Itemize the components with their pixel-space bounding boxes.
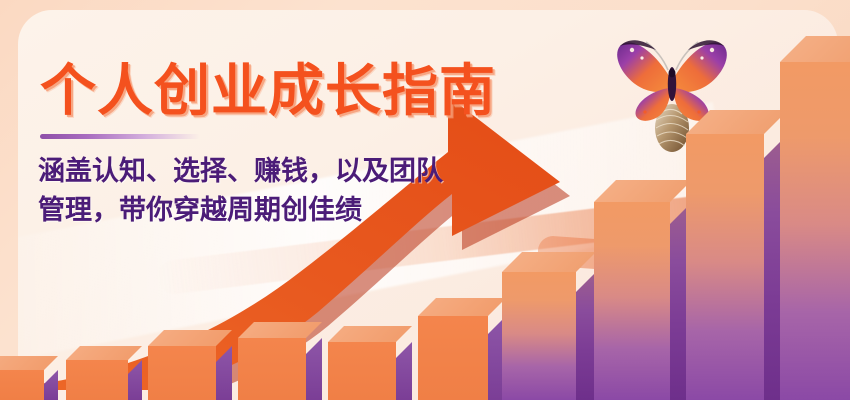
chart-bar [66, 360, 128, 400]
butterfly-wing-left-upper [617, 43, 669, 93]
subtitle-block: 涵盖认知、选择、赚钱，以及团队 管理，带你穿越周期创佳绩 [38, 152, 568, 230]
chart-bar [148, 346, 216, 400]
chart-bar [686, 134, 764, 400]
chart-bar [418, 316, 488, 400]
chart-bar [328, 342, 396, 400]
bar-top-face [780, 36, 850, 62]
bar-front-face [594, 202, 670, 400]
chart-bar [0, 370, 44, 400]
bar-front-face [328, 342, 396, 400]
page-title: 个人创业成长指南 [40, 46, 496, 127]
title-divider [40, 134, 200, 139]
chart-bar [780, 62, 850, 400]
chart-bar [502, 272, 576, 400]
bar-side-face [576, 272, 596, 400]
bar-front-face [502, 272, 576, 400]
bar-front-face [0, 370, 44, 400]
bar-front-face [780, 62, 850, 400]
chart-bar [238, 338, 306, 400]
bar-front-face [148, 346, 216, 400]
chart-bar [594, 202, 670, 400]
promo-banner: 个人创业成长指南 涵盖认知、选择、赚钱，以及团队 管理，带你穿越周期创佳绩 [0, 0, 850, 400]
bar-front-face [418, 316, 488, 400]
butterfly-wing-right-upper [675, 43, 727, 93]
subtitle-line-2: 管理，带你穿越周期创佳绩 [38, 191, 568, 230]
bar-front-face [66, 360, 128, 400]
bar-front-face [238, 338, 306, 400]
subtitle-line-1: 涵盖认知、选择、赚钱，以及团队 [38, 152, 568, 191]
bar-front-face [686, 134, 764, 400]
